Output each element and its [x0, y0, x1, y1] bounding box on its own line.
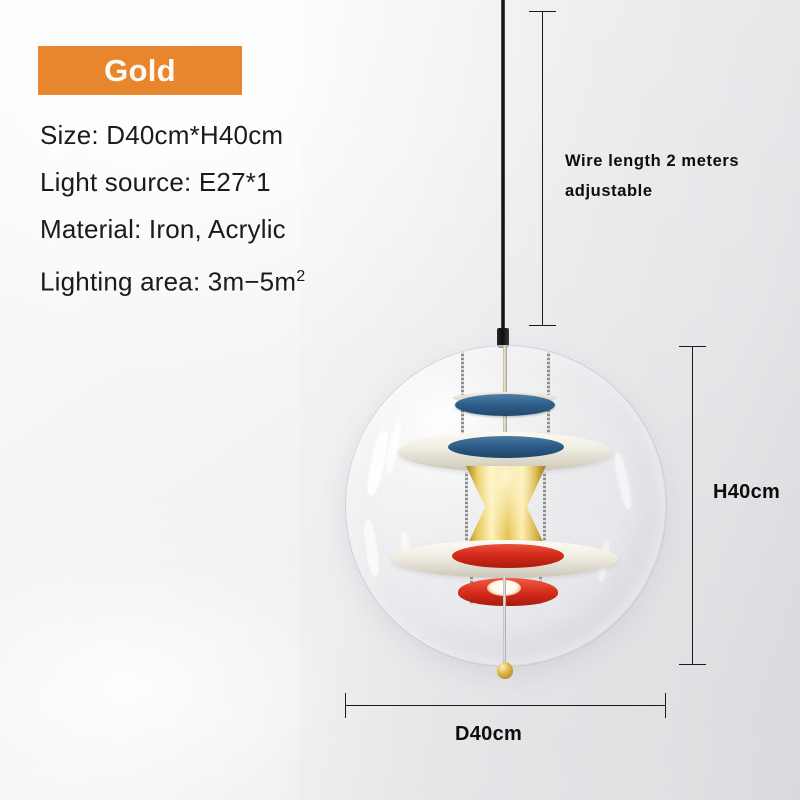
- width-dimension-label: D40cm: [455, 723, 522, 746]
- product-spec-image: Gold Size: D40cm*H40cm Light source: E27…: [0, 0, 800, 800]
- wire-length-note: Wire length 2 meters adjustable: [565, 146, 775, 206]
- spec-list: Size: D40cm*H40cm Light source: E27*1 Ma…: [40, 112, 398, 306]
- glass-highlight: [364, 429, 390, 496]
- suspension-chain: [470, 567, 473, 605]
- disc-white-lower: [392, 540, 618, 578]
- specification-panel: Gold Size: D40cm*H40cm Light source: E27…: [38, 46, 398, 306]
- background-light-glow: [0, 520, 420, 800]
- bulb-glow: [487, 580, 521, 596]
- glass-globe-shade: [345, 345, 665, 665]
- disc-blue-top: [455, 394, 555, 416]
- wire-length-note-line2: adjustable: [565, 176, 775, 206]
- inner-stem-lower: [503, 576, 506, 668]
- suspension-chain: [461, 352, 464, 440]
- disc-red-lower: [458, 578, 558, 606]
- suspension-chain: [465, 472, 468, 576]
- width-dimension-cap-left: [345, 693, 346, 718]
- glass-highlight: [597, 540, 611, 583]
- bottom-finial-ball: [497, 662, 513, 679]
- spec-line-material: Material: Iron, Acrylic: [40, 206, 398, 253]
- suspension-chain: [543, 472, 546, 576]
- spec-line-size: Size: D40cm*H40cm: [40, 112, 398, 159]
- width-dimension-cap-right: [665, 693, 666, 718]
- glass-highlight: [362, 520, 381, 577]
- disc-blue-middle: [448, 436, 564, 458]
- wire-dimension-cap-bottom: [529, 325, 556, 326]
- wire-length-note-line1: Wire length 2 meters: [565, 146, 775, 176]
- suspension-chain: [547, 352, 550, 440]
- disc-white-top-lip: [453, 392, 557, 404]
- disc-red-upper: [452, 544, 564, 568]
- disc-white-upper: [398, 432, 612, 472]
- spec-line-lighting-area: Lighting area: 3m−5m2: [40, 253, 398, 306]
- glass-highlight: [612, 452, 634, 511]
- spec-line-light-source: Light source: E27*1: [40, 159, 398, 206]
- height-dimension-line: [692, 346, 693, 664]
- height-dimension-cap-bottom: [679, 664, 706, 665]
- cord-end-cap: [497, 328, 509, 348]
- width-dimension-line: [345, 705, 666, 706]
- variant-badge: Gold: [38, 46, 242, 95]
- lighting-area-text: Lighting area: 3m−5m: [40, 267, 296, 297]
- lighting-area-superscript: 2: [296, 267, 305, 285]
- wire-dimension-line: [542, 11, 543, 325]
- inner-stem-upper: [503, 346, 507, 468]
- height-dimension-label: H40cm: [713, 481, 780, 504]
- glass-globe-rim: [345, 345, 667, 667]
- gold-hourglass-reflector: [466, 466, 546, 548]
- suspension-chain: [539, 567, 542, 605]
- height-dimension-cap-top: [679, 346, 706, 347]
- wire-dimension-cap-top: [529, 11, 556, 12]
- glass-highlight: [384, 422, 404, 475]
- glass-highlight: [400, 531, 412, 570]
- suspension-cord: [501, 0, 505, 336]
